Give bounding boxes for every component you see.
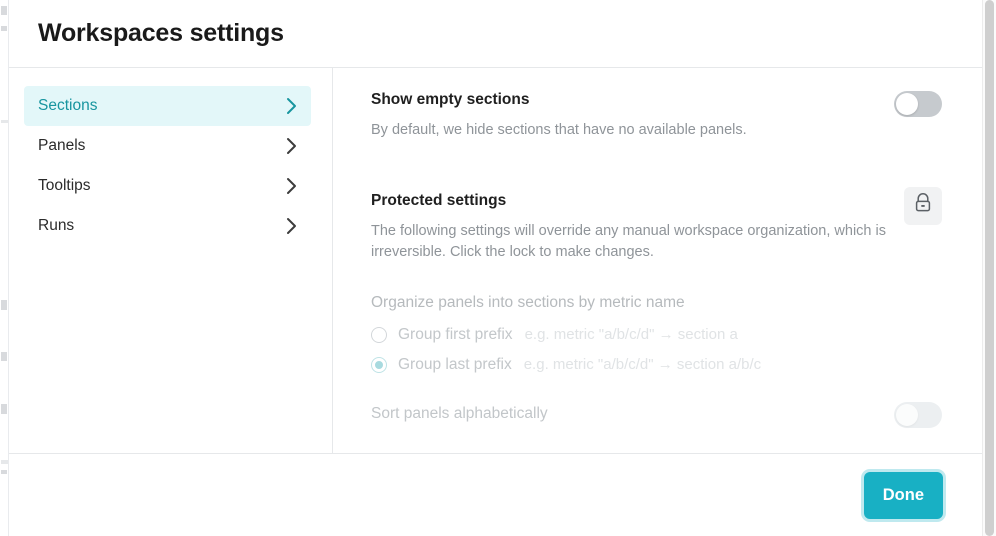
window-scrollbar-thumb[interactable] [985, 0, 994, 536]
show-empty-sections-toggle[interactable] [894, 91, 942, 117]
protected-settings-text: Protected settings The following setting… [371, 191, 888, 263]
radio-row-group-first-prefix[interactable]: Group first prefix e.g. metric "a/b/c/d"… [371, 326, 942, 344]
radio-group-first-prefix[interactable] [371, 327, 387, 343]
sort-panels-alphabetically-setting: Sort panels alphabetically [371, 401, 942, 428]
protected-settings-disabled-block: Organize panels into sections by metric … [371, 293, 942, 428]
show-empty-sections-text: Show empty sections By default, we hide … [371, 90, 747, 141]
show-empty-sections-setting: Show empty sections By default, we hide … [371, 90, 942, 141]
chevron-right-icon [286, 97, 297, 115]
protected-settings-section: Protected settings The following setting… [371, 191, 942, 428]
chevron-right-icon [286, 177, 297, 195]
protected-settings-description: The following settings will override any… [371, 221, 888, 263]
page-title: Workspaces settings [38, 19, 284, 48]
organize-panels-group-label: Organize panels into sections by metric … [371, 293, 942, 314]
sidebar-item-label: Panels [38, 137, 85, 155]
sidebar-item-tooltips[interactable]: Tooltips [24, 166, 311, 206]
sidebar-item-runs[interactable]: Runs [24, 206, 311, 246]
lock-button[interactable] [904, 187, 942, 225]
background-page-sliver [0, 0, 9, 536]
settings-sidebar: Sections Panels Tooltips Runs [9, 68, 333, 453]
protected-settings-title: Protected settings [371, 191, 888, 212]
sort-panels-toggle[interactable] [894, 402, 942, 428]
radio-hint: e.g. metric "a/b/c/d" → section a [525, 326, 738, 343]
radio-hint: e.g. metric "a/b/c/d" → section a/b/c [524, 356, 761, 373]
settings-content: Show empty sections By default, we hide … [333, 68, 982, 453]
chevron-right-icon [286, 217, 297, 235]
modal-footer: Done [9, 454, 982, 536]
sidebar-item-panels[interactable]: Panels [24, 126, 311, 166]
radio-label: Group last prefix [398, 356, 512, 374]
sidebar-item-label: Tooltips [38, 177, 91, 195]
show-empty-sections-title: Show empty sections [371, 90, 747, 111]
radio-label: Group first prefix [398, 326, 513, 344]
modal-body: Sections Panels Tooltips Runs [9, 68, 982, 454]
radio-group-last-prefix[interactable] [371, 357, 387, 373]
lock-icon [914, 193, 932, 218]
done-button[interactable]: Done [864, 472, 943, 519]
workspaces-settings-modal: Workspaces settings Sections Panels Tool… [9, 0, 982, 536]
chevron-right-icon [286, 137, 297, 155]
show-empty-sections-description: By default, we hide sections that have n… [371, 120, 747, 141]
sort-panels-label: Sort panels alphabetically [371, 405, 548, 423]
toggle-knob [896, 404, 918, 426]
toggle-knob [896, 93, 918, 115]
sidebar-item-sections[interactable]: Sections [24, 86, 311, 126]
window-scrollbar[interactable] [982, 0, 996, 536]
radio-row-group-last-prefix[interactable]: Group last prefix e.g. metric "a/b/c/d" … [371, 356, 942, 374]
sidebar-item-label: Sections [38, 97, 97, 115]
sidebar-item-label: Runs [38, 217, 74, 235]
protected-settings-header: Protected settings The following setting… [371, 191, 942, 263]
modal-header: Workspaces settings [9, 0, 982, 68]
